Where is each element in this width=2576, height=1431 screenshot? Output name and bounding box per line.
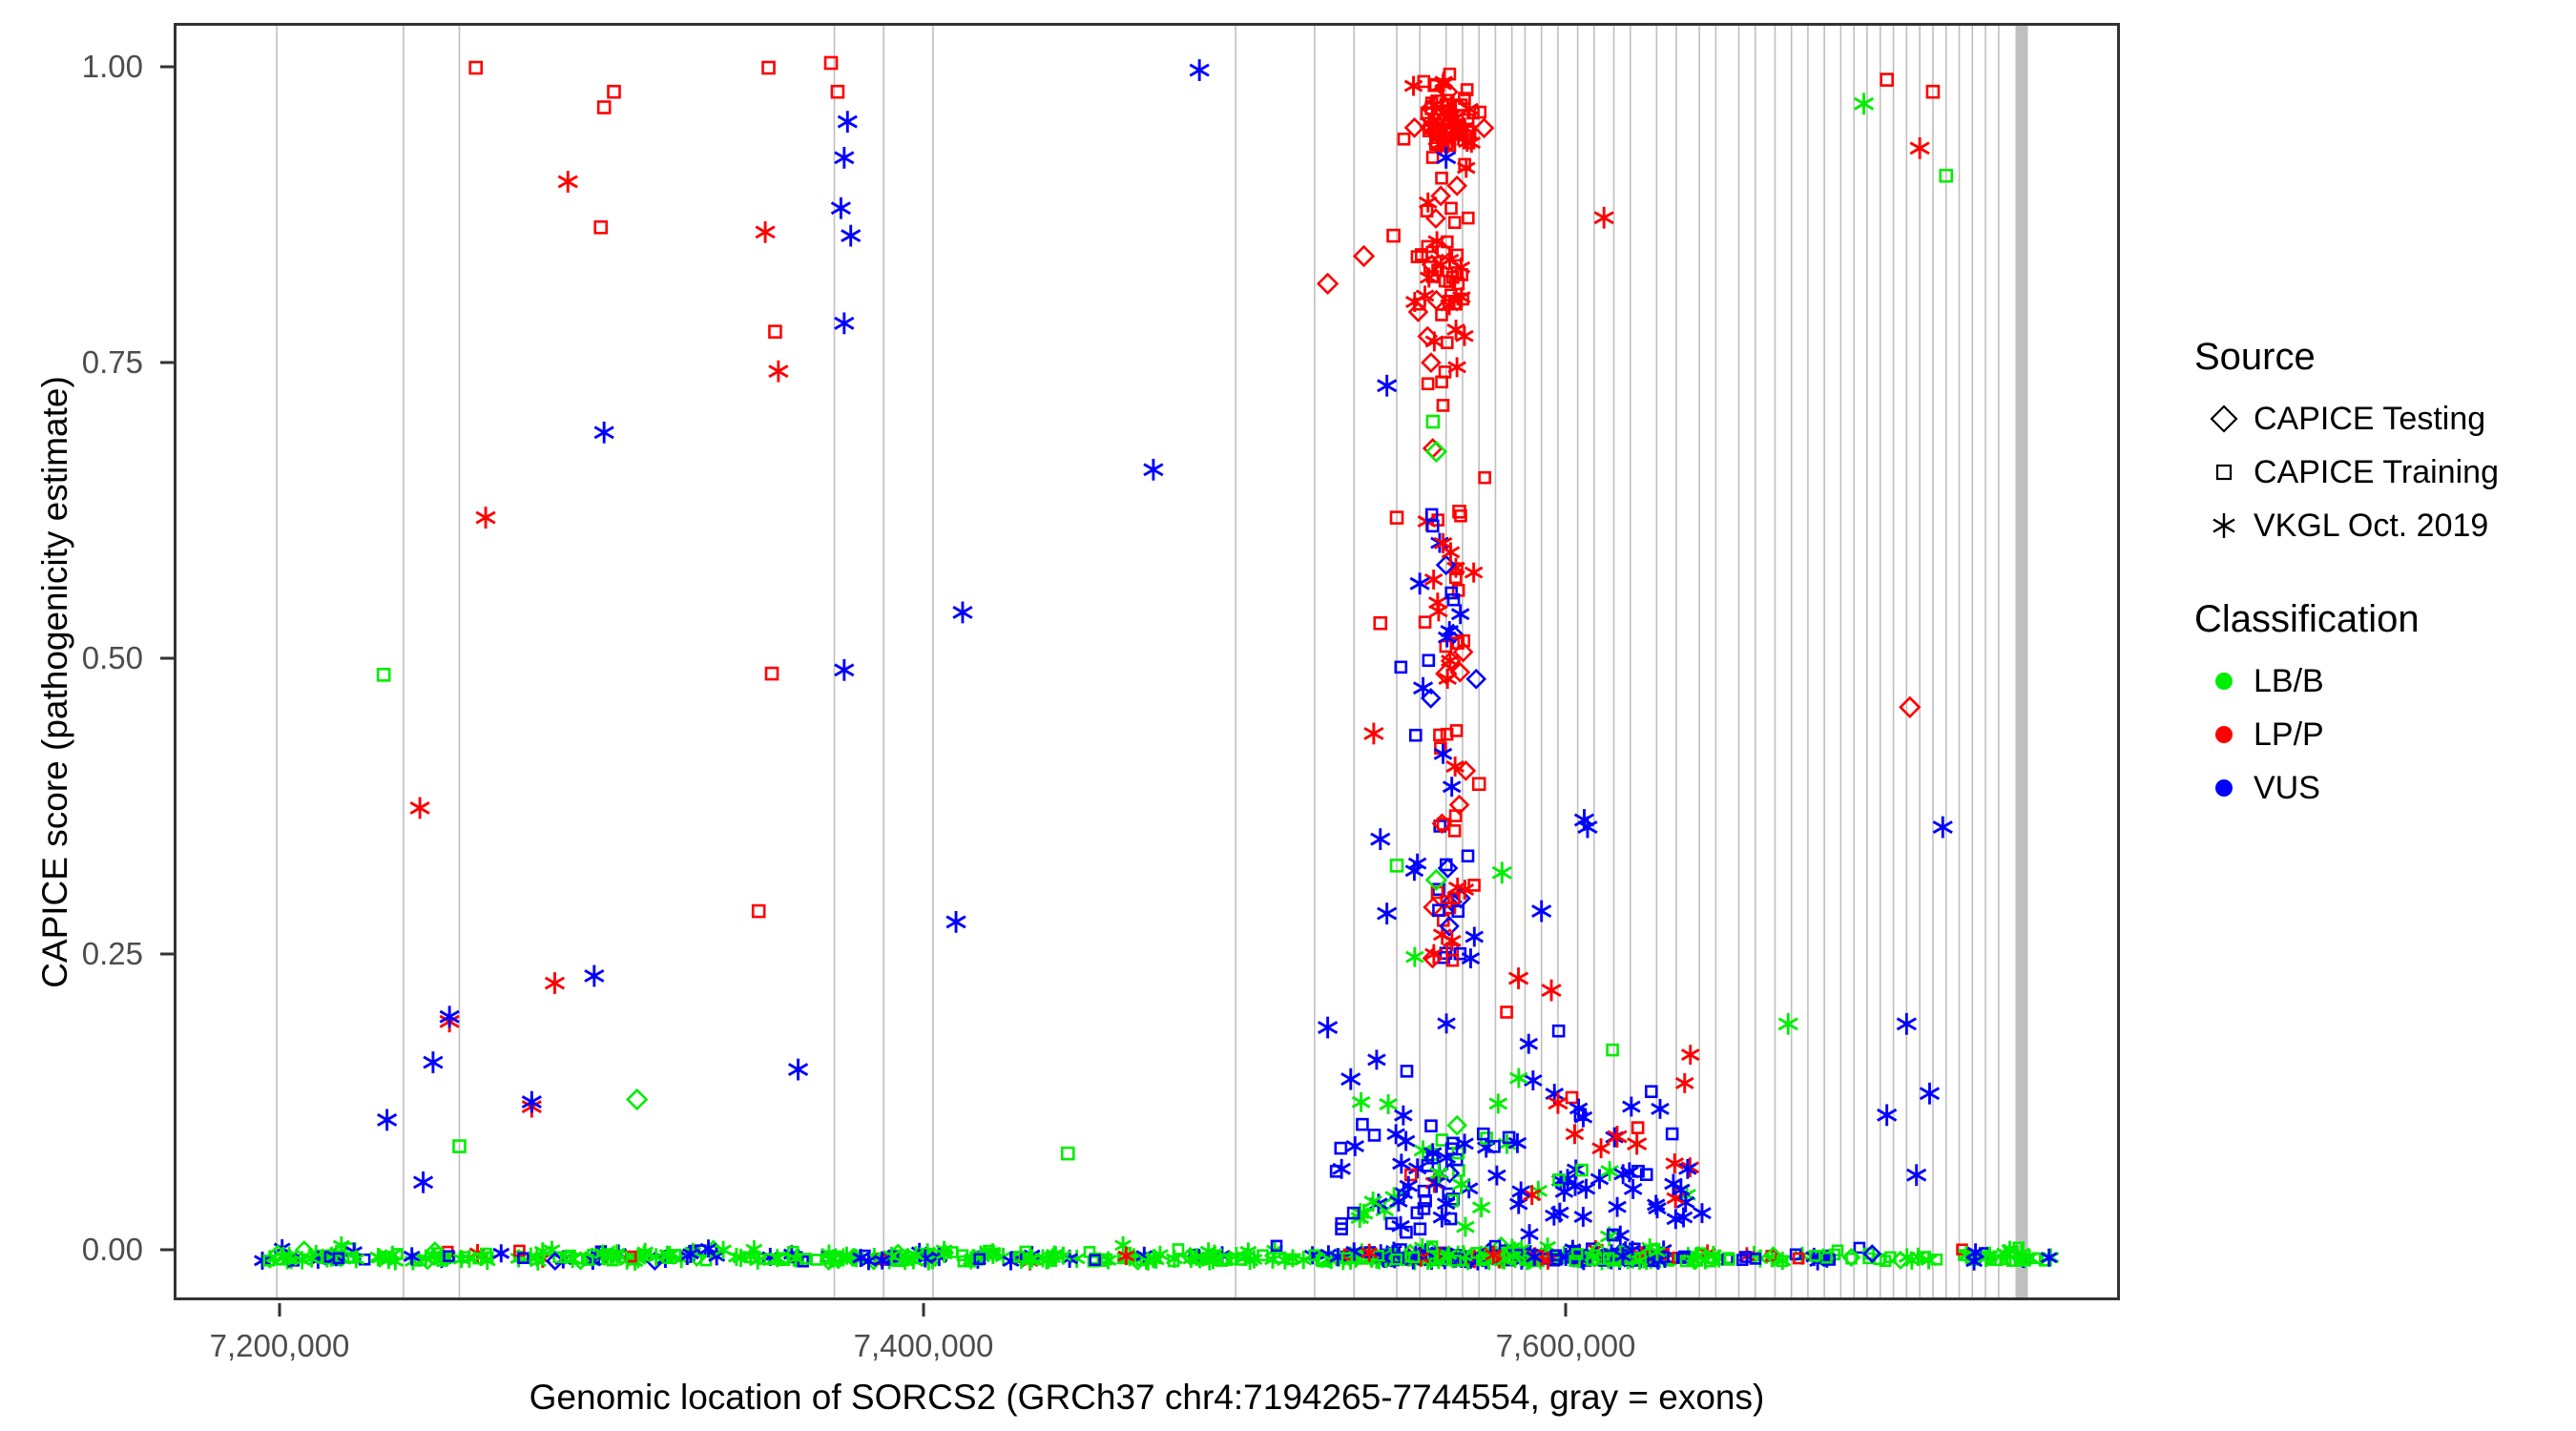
data-point-asterisk xyxy=(1676,1073,1693,1093)
circle-icon-red xyxy=(2194,708,2254,761)
data-point-square xyxy=(595,221,607,233)
data-point-square xyxy=(609,86,620,97)
data-point-asterisk xyxy=(1682,1045,1699,1065)
data-point-asterisk xyxy=(1387,1124,1404,1144)
legend-item-lpp[interactable]: LP/P xyxy=(2194,708,2557,761)
y-tick-label: 0.00 xyxy=(0,1232,143,1268)
data-point-asterisk xyxy=(558,171,577,193)
data-point-asterisk xyxy=(769,361,788,383)
legend-group-classification: Classification LB/B LP/P VUS xyxy=(2194,598,2557,815)
data-point-diamond xyxy=(1423,354,1440,371)
data-point-square xyxy=(1427,153,1438,163)
x-tick-label: 7,400,000 xyxy=(854,1328,994,1364)
data-point-asterisk xyxy=(946,911,966,933)
chart-legend: Source CAPICE Testing CAPICE Training xyxy=(2194,336,2557,861)
data-point-square xyxy=(1425,1121,1436,1131)
data-point-square xyxy=(1062,1148,1073,1159)
data-point-square xyxy=(1463,213,1473,223)
data-point-asterisk xyxy=(1438,1013,1455,1033)
data-point-diamond xyxy=(1424,440,1442,457)
data-point-diamond xyxy=(1319,275,1338,294)
data-point-square xyxy=(1463,851,1473,861)
data-point-diamond xyxy=(1427,210,1444,227)
data-point-square xyxy=(1881,74,1893,86)
legend-item-capice-training[interactable]: CAPICE Training xyxy=(2194,446,2557,499)
data-point-square xyxy=(1480,472,1490,483)
data-point-asterisk xyxy=(1594,207,1613,229)
chart-figure: 1.00 0.75 0.50 0.25 0.00 CAPICE score (p… xyxy=(0,0,2576,1431)
data-point-diamond xyxy=(1467,671,1485,688)
data-point-square xyxy=(1646,1087,1656,1097)
data-point-square xyxy=(378,669,389,680)
data-point-diamond xyxy=(1901,697,1920,716)
data-point-asterisk xyxy=(1368,1049,1385,1069)
data-point-asterisk xyxy=(1144,459,1163,481)
data-point-square xyxy=(1369,1130,1380,1140)
data-point-asterisk xyxy=(1897,1013,1916,1035)
data-point-asterisk xyxy=(835,312,854,334)
data-point-asterisk xyxy=(1855,93,1874,114)
data-point-square xyxy=(1423,655,1434,666)
data-point-square xyxy=(1399,134,1409,144)
circle-icon-green xyxy=(2194,654,2254,708)
data-point-asterisk xyxy=(1910,137,1929,159)
data-point-square xyxy=(753,905,764,917)
data-point-asterisk xyxy=(378,1109,397,1130)
data-point-asterisk xyxy=(1371,828,1390,850)
scatter-plot-canvas xyxy=(177,26,2117,1297)
legend-label: LP/P xyxy=(2254,716,2324,754)
data-point-asterisk xyxy=(835,659,854,681)
data-point-square xyxy=(1567,1092,1577,1103)
x-tick-label: 7,600,000 xyxy=(1496,1328,1636,1364)
data-point-asterisk xyxy=(1652,1099,1669,1119)
data-point-diamond xyxy=(1427,443,1446,462)
data-point-asterisk xyxy=(1532,901,1551,923)
data-point-square xyxy=(1442,338,1452,348)
data-point-square xyxy=(1357,1119,1367,1130)
legend-label: CAPICE Testing xyxy=(2254,401,2485,438)
x-tick-mark xyxy=(923,1303,925,1317)
data-point-asterisk xyxy=(1414,677,1433,699)
y-tick-label: 0.25 xyxy=(0,936,143,972)
data-point-square xyxy=(1449,218,1460,228)
asterisk-icon xyxy=(2194,499,2254,552)
data-point-asterisk xyxy=(1625,1179,1642,1199)
data-point-asterisk xyxy=(414,1172,433,1193)
data-point-asterisk xyxy=(789,1059,808,1081)
data-point-asterisk xyxy=(1473,1197,1490,1217)
data-point-asterisk xyxy=(1921,1083,1940,1105)
data-point-square xyxy=(1336,1143,1346,1153)
legend-item-lbb[interactable]: LB/B xyxy=(2194,654,2557,708)
data-point-asterisk xyxy=(953,602,972,624)
data-point-asterisk xyxy=(1319,1017,1338,1039)
data-point-square xyxy=(470,62,482,73)
y-tick-mark xyxy=(160,66,174,69)
data-point-square xyxy=(1437,173,1447,183)
y-tick-mark xyxy=(160,953,174,956)
legend-label: VKGL Oct. 2019 xyxy=(2254,508,2488,545)
data-point-asterisk xyxy=(1346,1136,1363,1156)
data-point-asterisk xyxy=(1693,1203,1711,1223)
data-point-asterisk xyxy=(1190,59,1209,81)
y-tick-label: 1.00 xyxy=(0,49,143,85)
data-point-asterisk xyxy=(1378,375,1397,397)
data-point-asterisk xyxy=(756,221,775,243)
data-point-square xyxy=(766,668,778,679)
y-tick-mark xyxy=(160,362,174,364)
data-point-asterisk xyxy=(1465,927,1483,947)
data-point-asterisk xyxy=(1623,1097,1640,1117)
data-point-square xyxy=(1423,379,1433,389)
data-point-square xyxy=(769,326,780,338)
legend-item-vus[interactable]: VUS xyxy=(2194,761,2557,815)
data-point-asterisk xyxy=(838,111,857,133)
y-tick-label: 0.50 xyxy=(0,640,143,676)
data-point-asterisk xyxy=(1488,1166,1506,1186)
diamond-icon xyxy=(2194,392,2254,446)
y-tick-label: 0.75 xyxy=(0,344,143,381)
data-point-square xyxy=(1855,1243,1864,1253)
data-point-asterisk xyxy=(1378,902,1397,924)
data-point-asterisk xyxy=(1933,817,1952,839)
legend-label: VUS xyxy=(2254,770,2320,807)
data-point-asterisk xyxy=(841,225,861,247)
data-point-asterisk xyxy=(585,965,604,987)
data-point-asterisk xyxy=(1406,947,1423,967)
y-axis-title: CAPICE score (pathogenicity estimate) xyxy=(35,348,75,1016)
x-tick-mark xyxy=(1565,1303,1568,1317)
data-point-square xyxy=(1502,1006,1512,1017)
legend-group-source: Source CAPICE Testing CAPICE Training xyxy=(2194,336,2557,552)
x-axis-title: Genomic location of SORCS2 (GRCh37 chr4:… xyxy=(174,1378,2120,1418)
data-point-asterisk xyxy=(1608,1126,1627,1148)
data-point-asterisk xyxy=(1566,1124,1583,1144)
data-point-square xyxy=(1375,617,1386,629)
plot-panel xyxy=(174,23,2120,1300)
data-point-square xyxy=(1445,203,1456,214)
data-point-asterisk xyxy=(1609,1197,1626,1217)
data-point-square xyxy=(598,102,610,114)
legend-label: LB/B xyxy=(2254,663,2324,700)
data-point-asterisk xyxy=(1521,1224,1538,1244)
data-point-asterisk xyxy=(476,507,495,529)
data-point-square xyxy=(1632,1123,1643,1133)
data-point-square xyxy=(1420,617,1430,628)
data-point-asterisk xyxy=(1398,1131,1415,1151)
data-point-asterisk xyxy=(1341,1068,1361,1090)
x-tick-label: 7,200,000 xyxy=(210,1328,350,1364)
data-points-layer xyxy=(255,57,2059,1271)
data-point-asterisk xyxy=(546,972,565,994)
data-point-square xyxy=(1427,416,1439,427)
data-point-square xyxy=(812,1255,821,1264)
data-point-asterisk xyxy=(1452,604,1469,624)
data-point-square xyxy=(1608,1045,1618,1055)
legend-item-capice-testing[interactable]: CAPICE Testing xyxy=(2194,392,2557,446)
x-tick-mark xyxy=(279,1303,281,1317)
data-point-asterisk xyxy=(424,1051,443,1073)
data-point-square xyxy=(763,62,775,73)
square-icon xyxy=(2194,446,2254,499)
legend-label: CAPICE Training xyxy=(2254,454,2499,491)
legend-title-classification: Classification xyxy=(2194,598,2557,641)
data-point-square xyxy=(1449,825,1460,836)
data-point-diamond xyxy=(1476,119,1493,136)
data-point-asterisk xyxy=(835,147,854,169)
data-point-asterisk xyxy=(1489,1093,1506,1113)
data-point-diamond xyxy=(1355,247,1374,266)
data-point-asterisk xyxy=(1457,1217,1474,1237)
data-point-asterisk xyxy=(493,1244,509,1262)
data-point-asterisk xyxy=(410,798,429,819)
data-point-asterisk xyxy=(594,422,613,444)
data-point-asterisk xyxy=(1907,1164,1926,1186)
data-point-asterisk xyxy=(1778,1013,1797,1035)
y-tick-mark xyxy=(160,657,174,660)
circle-icon-blue xyxy=(2194,761,2254,815)
legend-item-vkgl[interactable]: VKGL Oct. 2019 xyxy=(2194,499,2557,552)
data-point-asterisk xyxy=(1520,1034,1537,1054)
data-point-diamond xyxy=(628,1090,647,1110)
data-point-asterisk xyxy=(1364,723,1383,745)
legend-title-source: Source xyxy=(2194,336,2557,379)
data-point-asterisk xyxy=(1353,1092,1370,1112)
data-point-square xyxy=(1402,1066,1412,1076)
y-tick-mark xyxy=(160,1249,174,1252)
